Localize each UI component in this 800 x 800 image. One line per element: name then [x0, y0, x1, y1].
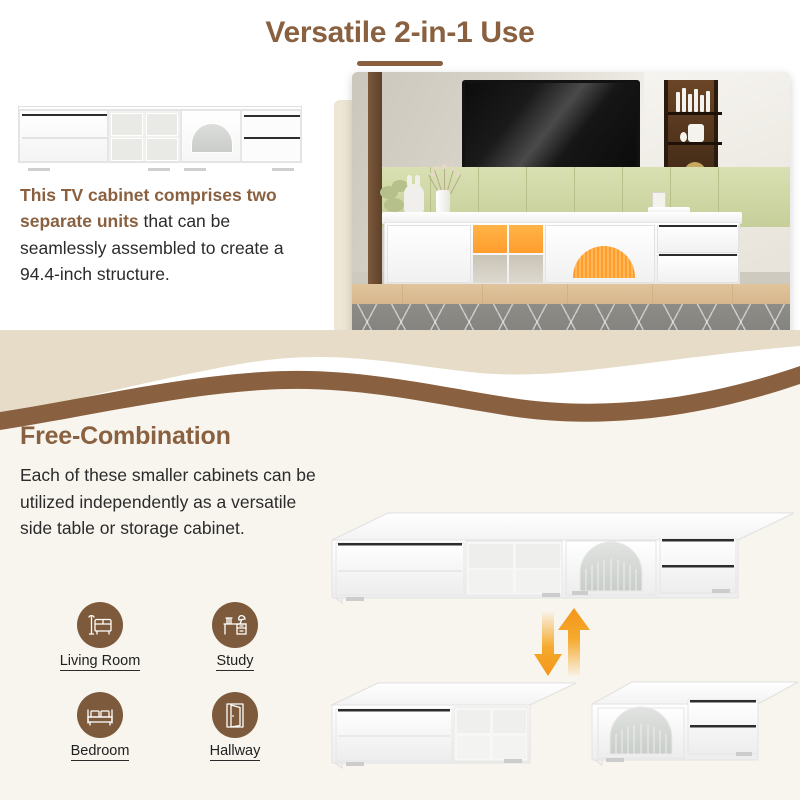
- unit-top-surface: [332, 683, 576, 705]
- unit-leg: [504, 759, 522, 763]
- cabinet-arched-glass-door: [181, 110, 241, 162]
- badge-bedroom[interactable]: Bedroom: [40, 692, 160, 761]
- cabinet-leg: [28, 168, 50, 171]
- photo-flower-bud: [430, 172, 435, 177]
- drawer-split-line: [22, 137, 107, 139]
- cubby: [457, 710, 490, 733]
- cubby: [516, 544, 560, 568]
- cabinet-leg: [184, 168, 206, 171]
- badge-study[interactable]: Study: [175, 602, 295, 671]
- drawer-gap-line: [662, 565, 734, 568]
- unit-leg: [346, 762, 364, 766]
- photo-tv-cabinet: [384, 222, 740, 284]
- photo-shelf-board: [668, 112, 722, 115]
- cubby: [146, 138, 178, 161]
- photo-rabbit-ear: [407, 175, 412, 187]
- drawer-gap-line: [22, 114, 107, 116]
- drawer-gap-line: [690, 700, 756, 703]
- desk-lamp-icon: [212, 602, 258, 648]
- full-assembled-cabinet-illustration: [18, 106, 302, 168]
- photo-drawer-line: [659, 254, 737, 256]
- unit-leg: [606, 758, 624, 762]
- photo-rabbit-ear: [415, 175, 420, 187]
- cabinet-right-drawers: [241, 110, 301, 162]
- badge-living-room[interactable]: Living Room: [40, 602, 160, 671]
- photo-cubby: [509, 255, 543, 283]
- infographic-page: Versatile 2-in-1 Use: [0, 0, 800, 800]
- photo-led-glow-cubby: [473, 225, 507, 253]
- badge-hallway[interactable]: Hallway: [175, 692, 295, 761]
- combined-unit-illustration: [328, 485, 798, 615]
- unit-leg: [346, 597, 364, 601]
- cubby: [111, 138, 143, 161]
- photo-cubby: [473, 255, 507, 283]
- photo-flower-bud: [450, 166, 455, 171]
- arrow-up-icon: [558, 608, 590, 676]
- unit-left-drawers: [336, 543, 464, 595]
- photo-shelf-decor: [700, 95, 704, 112]
- photo-shelf-decor: [706, 91, 710, 112]
- photo-shelf-decor: [680, 132, 687, 142]
- drawer-gap-line: [690, 725, 756, 728]
- bed-icon: [77, 692, 123, 738]
- sofa-lamp-icon: [77, 602, 123, 648]
- photo-shelf-vase: [688, 124, 704, 142]
- badge-label: Bedroom: [71, 743, 130, 761]
- cubby: [493, 736, 526, 759]
- photo-cabinet-drawer: [657, 225, 739, 253]
- left-unit-drawers: [336, 709, 452, 761]
- assembly-arrows: [530, 604, 620, 684]
- unit-top-surface: [332, 513, 794, 540]
- arrow-down-icon: [534, 612, 562, 676]
- unit-leg: [736, 752, 752, 756]
- cubby: [457, 736, 490, 759]
- cubby: [469, 544, 513, 568]
- badge-label: Living Room: [60, 653, 141, 671]
- photo-shelf-board: [668, 142, 722, 145]
- photo-picture-frame: [652, 192, 666, 208]
- section-body-text: Each of these smaller cabinets can be ut…: [20, 462, 330, 542]
- intro-paragraph: This TV cabinet comprises two separate u…: [20, 182, 320, 287]
- cubby: [516, 570, 560, 593]
- photo-cabinet-drawer: [657, 255, 739, 283]
- cubby: [146, 113, 178, 136]
- cabinet-open-cubbies: [108, 110, 181, 162]
- open-door-icon: [212, 692, 258, 738]
- photo-shelf-decor: [676, 92, 680, 112]
- drawer-gap-line: [662, 539, 734, 542]
- cubby: [469, 570, 513, 593]
- cabinet-left-drawer-panel: [19, 110, 108, 162]
- photo-led-glow-cubby: [509, 225, 543, 253]
- badge-label: Study: [216, 653, 253, 671]
- drawer-gap-line: [338, 543, 462, 546]
- drawer-gap-line: [244, 137, 300, 139]
- photo-flower-bud: [455, 172, 460, 177]
- cubby: [111, 113, 143, 136]
- photo-leaf: [384, 198, 404, 212]
- page-title: Versatile 2-in-1 Use: [0, 16, 800, 50]
- unit-leg: [712, 589, 730, 593]
- cabinet-leg: [272, 168, 294, 171]
- cabinet-leg: [148, 168, 170, 171]
- title-underline-accent: [357, 61, 443, 66]
- living-room-photo: [352, 72, 790, 359]
- photo-flower-bud: [442, 164, 447, 169]
- photo-shelf-decor: [688, 94, 692, 112]
- drawer-gap-line: [244, 115, 300, 117]
- photo-flower-bud: [434, 166, 439, 171]
- photo-shelf-decor: [694, 89, 698, 112]
- badge-label: Hallway: [210, 743, 261, 761]
- arched-fluted-glass-panel: [191, 123, 233, 153]
- photo-cabinet-left-door: [387, 225, 471, 283]
- photo-rabbit-ornament: [404, 184, 424, 214]
- section-title: Free-Combination: [20, 422, 231, 451]
- unit-leg: [572, 591, 588, 595]
- unit-leg: [542, 593, 560, 597]
- photo-shelf-decor: [682, 88, 686, 112]
- cubby: [493, 710, 526, 733]
- photo-drawer-line: [659, 225, 737, 227]
- drawer-gap-line: [338, 709, 450, 712]
